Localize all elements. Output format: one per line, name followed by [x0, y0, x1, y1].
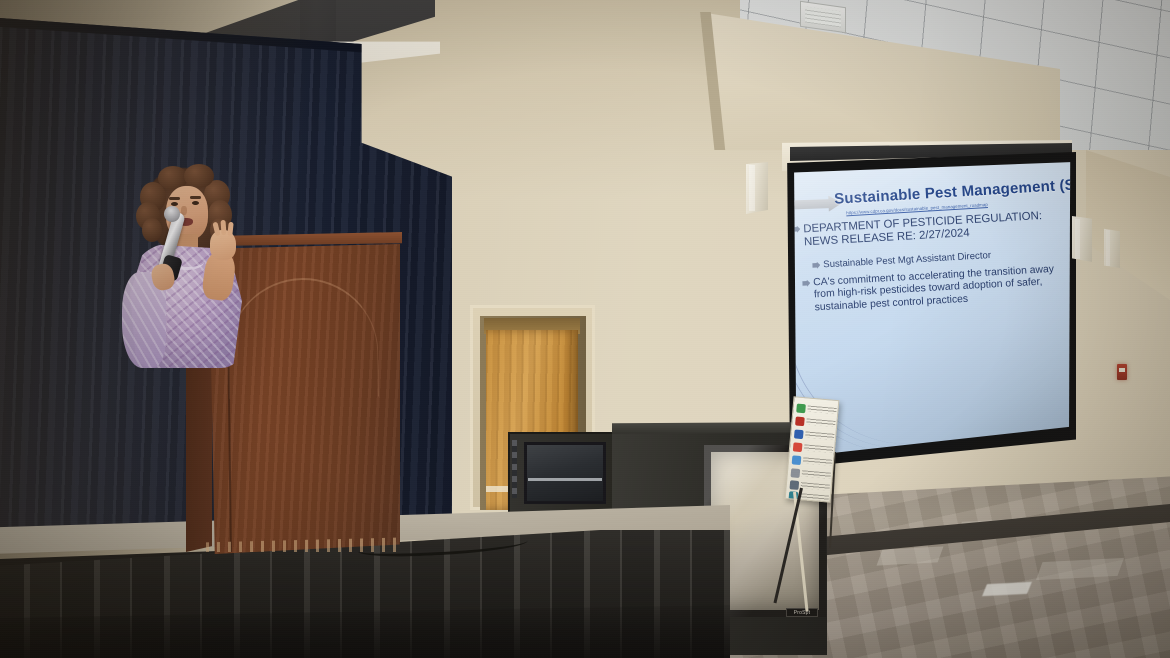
- wall-speaker-icon: [746, 162, 768, 214]
- presenter-finger: [220, 220, 226, 235]
- bullet-arrow-icon: [802, 280, 810, 287]
- poster-text-line: [805, 431, 834, 440]
- poster-icon: [796, 403, 806, 413]
- poster-icon: [795, 416, 805, 426]
- easel-poster[interactable]: [785, 396, 840, 503]
- poster-text-line: [802, 470, 831, 479]
- presenter-hair-curl: [142, 218, 162, 242]
- poster-icon: [789, 480, 799, 490]
- poster-text-line: [800, 493, 829, 502]
- presenter: [118, 168, 248, 368]
- photo-scene: Sustainable Pest Management (SPM) https:…: [0, 0, 1170, 658]
- poster-text-line: [801, 482, 830, 491]
- cabinet-hinge-icon: [512, 440, 517, 498]
- presenter-eyebrow: [190, 196, 201, 199]
- poster-icon: [793, 442, 803, 452]
- poster-text-line: [804, 444, 833, 453]
- rear-cabinet-glass-door[interactable]: [524, 442, 606, 504]
- presenter-eye: [192, 201, 199, 205]
- fire-alarm-pull-icon[interactable]: [1117, 364, 1127, 380]
- rear-cabinet-shelf: [528, 478, 602, 481]
- poster-icon: [794, 429, 804, 439]
- wall-speaker-icon: [1104, 228, 1120, 268]
- poster-text-line: [806, 418, 835, 427]
- presenter-hair-curl: [184, 164, 214, 188]
- poster-icon: [791, 468, 801, 478]
- poster-icon: [792, 455, 802, 465]
- poster-text-line: [803, 457, 832, 466]
- case-brand-label-front: ProSpt: [786, 608, 818, 617]
- bullet-arrow-icon: [812, 262, 820, 269]
- presenter-eyebrow: [169, 197, 180, 200]
- poster-text-line: [807, 405, 836, 414]
- wall-speaker-icon: [1072, 216, 1092, 262]
